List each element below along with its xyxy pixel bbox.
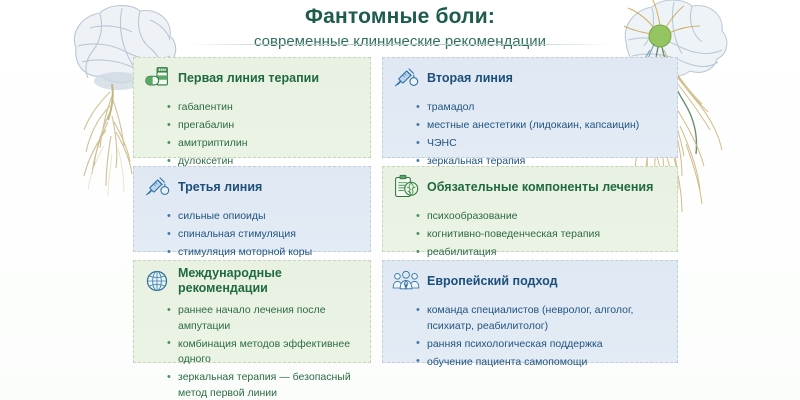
card-item-list: команда специалистов (невролог, алголог,… [416, 303, 668, 373]
card-second-line[interactable]: Вторая линия трамадол местные анестетики… [382, 57, 678, 158]
card-title: Третья линия [178, 180, 262, 195]
list-item: реабилитация [416, 245, 668, 261]
card-header: Вторая линия [392, 65, 668, 91]
list-item: когнитивно-поведенческая терапия [416, 227, 668, 243]
infographic-page: Фантомные боли: современные клинические … [0, 0, 800, 400]
card-international-recommendations[interactable]: Международные рекомендации раннее начало… [133, 260, 371, 363]
card-item-list: сильные опиоиды спинальная стимуляция ст… [167, 209, 361, 263]
list-item: спинальная стимуляция [167, 227, 361, 243]
list-item: габапентин [167, 100, 361, 116]
card-header: Первая линия терапии [143, 65, 361, 91]
syringe-icon [143, 174, 171, 200]
card-title: Обязательные компоненты лечения [427, 180, 653, 195]
list-item: обучение пациента самопомощи [416, 355, 668, 371]
header-divider [188, 44, 612, 45]
card-title: Вторая линия [427, 71, 513, 86]
card-item-list: габапентин прегабалин амитриптилин дулок… [167, 100, 361, 172]
card-header: Третья линия [143, 174, 361, 200]
card-item-list: раннее начало лечения после ампутации ко… [167, 303, 361, 400]
card-item-list: трамадол местные анестетики (лидокаин, к… [416, 100, 668, 172]
page-title: Фантомные боли: [0, 4, 800, 30]
card-header: Международные рекомендации [143, 268, 361, 294]
card-mandatory-components[interactable]: Обязательные компоненты лечения психообр… [382, 166, 678, 252]
globe-icon [143, 268, 171, 294]
list-item: амитриптилин [167, 136, 361, 152]
card-title: Международные рекомендации [178, 266, 361, 296]
list-item: трамадол [416, 100, 668, 116]
clipboard-brain-icon [392, 174, 420, 200]
list-item: психообразование [416, 209, 668, 225]
card-european-approach[interactable]: Европейский подход команда специалистов … [382, 260, 678, 363]
page-subtitle: современные клинические рекомендации [0, 31, 800, 53]
cards-grid: Первая линия терапии габапентин прегабал… [133, 57, 678, 363]
list-item: комбинация методов эффективнее одного [167, 337, 361, 368]
medical-team-icon [392, 268, 420, 294]
list-item: ЧЭНС [416, 136, 668, 152]
header: Фантомные боли: современные клинические … [0, 4, 800, 53]
pill-bottle-icon [143, 65, 171, 91]
list-item: прегабалин [167, 118, 361, 134]
card-first-line-therapy[interactable]: Первая линия терапии габапентин прегабал… [133, 57, 371, 158]
list-item: ранняя психологическая поддержка [416, 337, 668, 353]
list-item: зеркальная терапия — безопасный метод пе… [167, 370, 361, 400]
list-item: сильные опиоиды [167, 209, 361, 225]
card-header: Европейский подход [392, 268, 668, 294]
list-item: местные анестетики (лидокаин, капсаицин) [416, 118, 668, 134]
card-title: Первая линия терапии [178, 71, 319, 86]
syringe-icon [392, 65, 420, 91]
card-third-line[interactable]: Третья линия сильные опиоиды спинальная … [133, 166, 371, 252]
card-header: Обязательные компоненты лечения [392, 174, 668, 200]
card-title: Европейский подход [427, 274, 558, 289]
list-item: команда специалистов (невролог, алголог,… [416, 303, 668, 334]
list-item: раннее начало лечения после ампутации [167, 303, 361, 334]
list-item: стимуляция моторной коры [167, 245, 361, 261]
